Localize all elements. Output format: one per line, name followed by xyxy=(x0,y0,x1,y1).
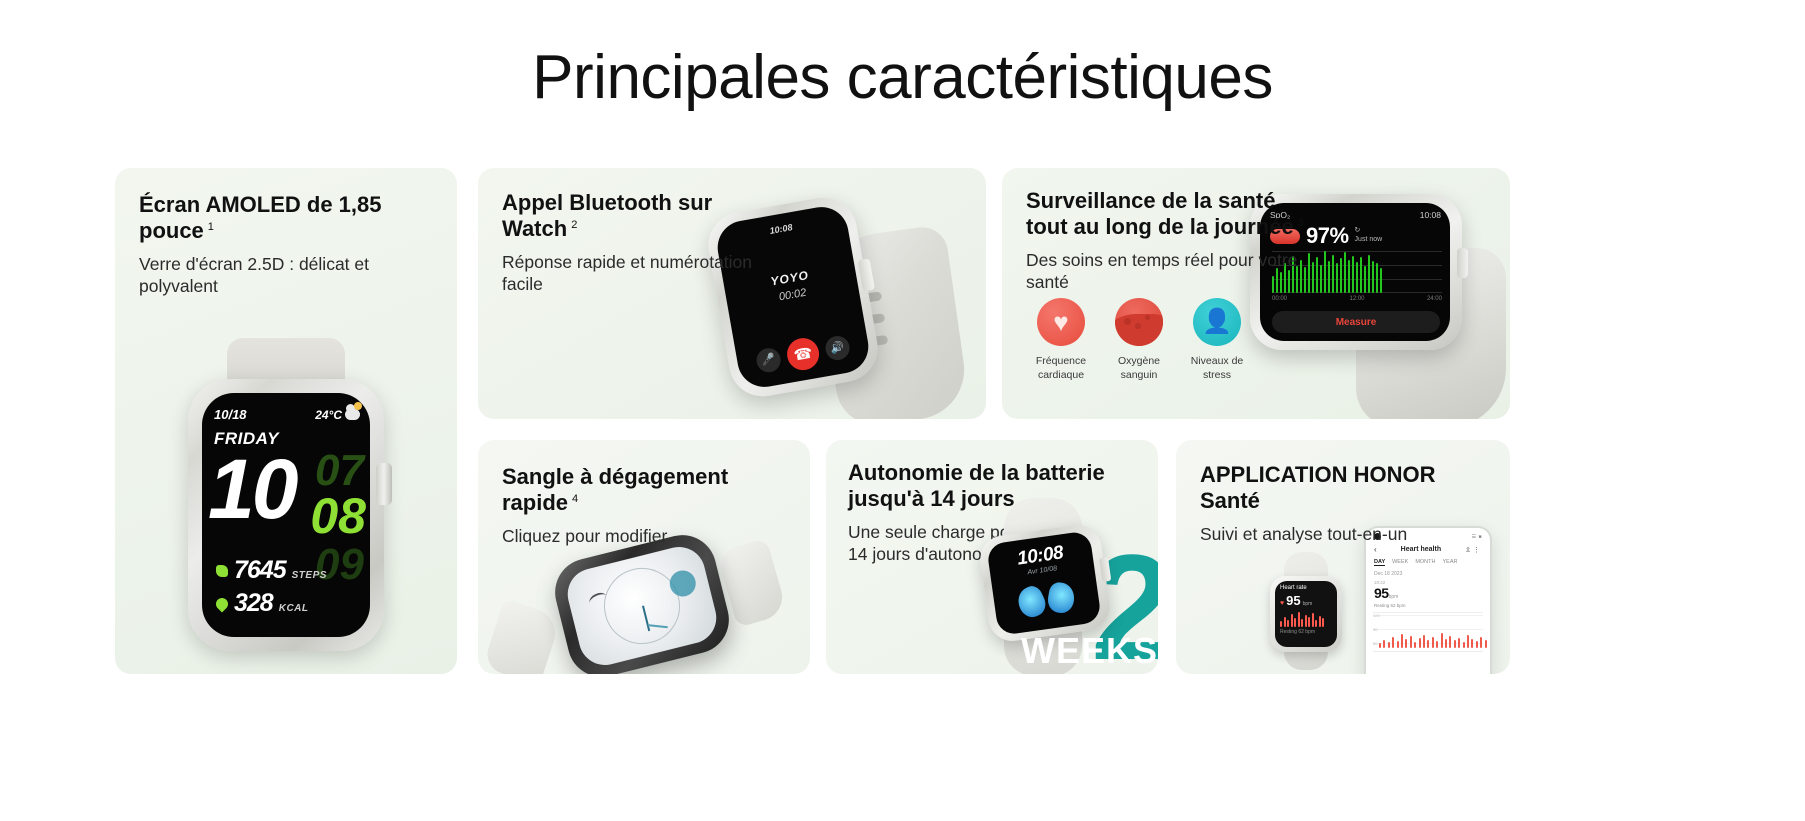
chart-y-label-mid: 90 xyxy=(1373,627,1377,632)
spo2-bar xyxy=(1352,256,1354,293)
phone-device-image: ☰ ■ ‹ Heart health ⇫⋮ DAY WEEK MONTH YEA… xyxy=(1364,526,1492,674)
spo2-bar xyxy=(1316,257,1318,293)
card-title: Sangle à dégagement rapide4 xyxy=(502,464,792,516)
phone-hangup-icon[interactable]: ☎ xyxy=(785,336,822,373)
watchface-hours: 10 xyxy=(208,447,295,531)
tab-month[interactable]: MONTH xyxy=(1415,559,1435,566)
card-subtitle: Cliquez pour modifier xyxy=(502,525,792,547)
butterfly-icon xyxy=(1017,581,1078,628)
card-title: Appel Bluetooth sur Watch2 xyxy=(502,190,782,242)
axis-start: 00:00 xyxy=(1272,296,1287,302)
health-metrics-row: ♥ Fréquence cardiaque Oxygène sanguin 👤 … xyxy=(1030,298,1248,382)
card-subtitle: Réponse rapide et numérotation facile xyxy=(502,251,782,296)
heart-rate-bar xyxy=(1305,615,1307,627)
chart-bar xyxy=(1419,638,1421,648)
heart-rate-value-row: ♥ 95 bpm xyxy=(1280,593,1332,608)
spo2-bar xyxy=(1372,261,1374,293)
chart-bar xyxy=(1449,636,1451,648)
spo2-status: ↻Just now xyxy=(1355,227,1383,245)
heart-rate-bar xyxy=(1322,618,1324,627)
heart-rate-label: Heart rate xyxy=(1280,585,1332,591)
spo2-bar xyxy=(1356,262,1358,293)
watchface-date: 10/18 xyxy=(214,407,247,422)
reading-unit: bpm xyxy=(1389,594,1399,600)
tab-day[interactable]: DAY xyxy=(1374,559,1385,566)
card-text-block: Surveillance de la santé tout au long de… xyxy=(1026,188,1316,294)
chart-bar xyxy=(1476,641,1478,648)
watch-strap-image xyxy=(486,530,810,674)
app-period-tabs[interactable]: DAY WEEK MONTH YEAR xyxy=(1366,557,1490,570)
watch-body: 10:08 Avr 10/08 xyxy=(977,522,1113,644)
heart-rate-bar xyxy=(1298,612,1300,627)
chart-bar xyxy=(1467,635,1469,648)
chart-bar xyxy=(1401,634,1403,648)
chart-y-label-high: 120 xyxy=(1373,613,1380,618)
card-subtitle: Verre d'écran 2.5D : délicat et polyvale… xyxy=(139,253,439,298)
metric-blood-oxygen[interactable]: Oxygène sanguin xyxy=(1108,298,1170,382)
heart-rate-bar xyxy=(1291,614,1293,627)
card-text-block: Écran AMOLED de 1,85 pouce1 Verre d'écra… xyxy=(139,192,439,298)
heart-rate-bar xyxy=(1280,621,1282,627)
watch-body xyxy=(548,528,736,674)
stress-level-icon: 👤 xyxy=(1193,298,1241,346)
watchface-temperature: 24°C xyxy=(315,408,342,422)
resting-heart-rate: Resting 62 bpm xyxy=(1280,629,1332,635)
heart-rate-bar xyxy=(1312,613,1314,627)
spo2-bar xyxy=(1340,258,1342,293)
app-resting-value: Resting 62 bpm xyxy=(1366,603,1490,610)
tab-week[interactable]: WEEK xyxy=(1392,559,1408,566)
footsteps-icon xyxy=(216,565,228,577)
spo2-bar xyxy=(1324,251,1326,293)
heart-rate-bar xyxy=(1287,620,1289,627)
feature-card-health-monitoring[interactable]: Surveillance de la santé tout au long de… xyxy=(1002,168,1510,419)
call-controls: 🎤 ☎ 🔊 xyxy=(735,327,871,381)
watch-crown xyxy=(1099,557,1111,582)
heart-rate-bars xyxy=(1280,611,1332,627)
app-page-title: Heart health xyxy=(1401,546,1441,553)
spo2-bar xyxy=(1348,260,1350,293)
watch-crown xyxy=(1457,248,1468,278)
chart-bar xyxy=(1445,639,1447,648)
chart-bar xyxy=(1471,639,1473,648)
heart-rate-bar xyxy=(1294,618,1296,627)
heart-rate-screen: Heart rate ♥ 95 bpm Resting 62 bpm xyxy=(1275,581,1337,647)
feature-card-amoled-display[interactable]: Écran AMOLED de 1,85 pouce1 Verre d'écra… xyxy=(115,168,457,674)
heart-rate-value: 95 xyxy=(1286,593,1300,608)
metric-heart-rate[interactable]: ♥ Fréquence cardiaque xyxy=(1030,298,1092,382)
chart-bar xyxy=(1397,641,1399,648)
kcal-unit: KCAL xyxy=(279,603,309,614)
chart-bar xyxy=(1485,640,1487,648)
heart-rate-bar xyxy=(1301,619,1303,627)
footnote-marker: 4 xyxy=(572,493,578,505)
chart-bar xyxy=(1383,640,1385,648)
chart-bar xyxy=(1414,642,1416,648)
spo2-chart-axis: 00:00 12:00 24:00 xyxy=(1272,296,1442,302)
app-date-label: Dec 18 2023 xyxy=(1366,570,1490,578)
watch-device-image: 10/18 24°C FRIDAY 10 07 08 09 7645 STEPS xyxy=(136,343,436,674)
speaker-icon[interactable]: 🔊 xyxy=(824,334,852,362)
spo2-bar xyxy=(1364,266,1366,293)
partly-cloudy-icon xyxy=(345,409,360,420)
axis-mid: 12:00 xyxy=(1349,296,1364,302)
watch-body: Heart rate ♥ 95 bpm Resting 62 bpm xyxy=(1270,576,1342,652)
measure-button[interactable]: Measure xyxy=(1272,311,1440,333)
chart-bar xyxy=(1432,637,1434,648)
watchface-minutes-previous: 07 xyxy=(315,449,364,493)
steps-unit: STEPS xyxy=(292,570,327,581)
spo2-time: 10:08 xyxy=(1420,210,1441,220)
watchface-steps-stat: 7645 STEPS xyxy=(216,556,327,585)
watch-screen: 10/18 24°C FRIDAY 10 07 08 09 7645 STEPS xyxy=(202,393,370,637)
axis-end: 24:00 xyxy=(1427,296,1442,302)
battery-badge-word: WEEKS xyxy=(1021,630,1158,672)
chart-baseline xyxy=(1373,651,1483,652)
chevron-left-icon[interactable]: ‹ xyxy=(1374,545,1377,554)
metric-label: Fréquence cardiaque xyxy=(1030,354,1092,382)
flame-icon xyxy=(214,595,231,612)
feature-card-honor-health-app[interactable]: APPLICATION HONOR Santé Suivi et analyse… xyxy=(1176,440,1510,674)
metric-label: Oxygène sanguin xyxy=(1108,354,1170,382)
spo2-bar xyxy=(1360,257,1362,293)
watch-screen: 10:08 Avr 10/08 xyxy=(986,530,1102,636)
heart-rate-bar xyxy=(1319,616,1321,627)
card-text-block: Sangle à dégagement rapide4 Cliquez pour… xyxy=(502,464,792,547)
app-toolbar-icons[interactable]: ⇫⋮ xyxy=(1465,546,1482,554)
spo2-bar xyxy=(1380,268,1382,293)
watch-device-image: Heart rate ♥ 95 bpm Resting 62 bpm xyxy=(1262,554,1348,672)
heart-rate-bar xyxy=(1284,617,1286,627)
feature-card-battery-life[interactable]: Autonomie de la batterie jusqu'à 14 jour… xyxy=(826,440,1158,674)
measure-button-label: Measure xyxy=(1336,317,1377,328)
chart-bar xyxy=(1392,637,1394,648)
chart-series xyxy=(1379,628,1481,648)
kcal-value: 328 xyxy=(234,589,273,618)
spo2-bar xyxy=(1368,255,1370,293)
card-title: Écran AMOLED de 1,85 pouce1 xyxy=(139,192,439,244)
card-title: Surveillance de la santé tout au long de… xyxy=(1026,188,1316,240)
chart-bar xyxy=(1423,635,1425,648)
watch-crown xyxy=(376,463,392,505)
metric-stress-level[interactable]: 👤 Niveaux de stress xyxy=(1186,298,1248,382)
footnote-marker: 1 xyxy=(208,221,214,233)
heart-icon: ♥ xyxy=(1280,600,1284,607)
watch-screen xyxy=(562,542,722,671)
steps-value: 7645 xyxy=(234,556,286,585)
spo2-bar xyxy=(1376,263,1378,293)
chart-bar xyxy=(1405,639,1407,648)
app-current-reading: 10:42 95bpm xyxy=(1366,578,1490,603)
spo2-bar xyxy=(1344,252,1346,293)
tab-year[interactable]: YEAR xyxy=(1442,559,1457,566)
chart-bar xyxy=(1410,636,1412,648)
spo2-bar xyxy=(1336,263,1338,293)
chart-y-label-low: 60 xyxy=(1373,641,1377,646)
footnote-marker: 2 xyxy=(571,219,577,231)
watchface-kcal-stat: 328 KCAL xyxy=(216,589,309,618)
microphone-icon[interactable]: 🎤 xyxy=(755,346,783,374)
chart-bar xyxy=(1441,633,1443,648)
heart-rate-unit: bpm xyxy=(1303,601,1313,607)
strap-piece-left xyxy=(482,598,561,674)
chart-bar xyxy=(1463,642,1465,648)
app-heart-rate-chart: 120 90 60 xyxy=(1373,612,1483,652)
card-subtitle: Suivi et analyse tout-en-un xyxy=(1200,523,1500,545)
footnote-marker: 3 xyxy=(1298,217,1304,229)
card-text-block: APPLICATION HONOR Santé Suivi et analyse… xyxy=(1200,462,1500,545)
page-title: Principales caractéristiques xyxy=(0,42,1805,113)
feature-card-quick-release-strap[interactable]: Sangle à dégagement rapide4 Cliquez pour… xyxy=(478,440,810,674)
card-title: APPLICATION HONOR Santé xyxy=(1200,462,1500,514)
spo2-bar xyxy=(1328,261,1330,293)
chart-bar xyxy=(1388,642,1390,648)
chart-bar xyxy=(1427,640,1429,648)
features-page: Principales caractéristiques Écran AMOLE… xyxy=(0,0,1805,821)
chart-bar xyxy=(1480,637,1482,648)
reading-value: 95 xyxy=(1374,585,1389,601)
watchface-minutes: 08 xyxy=(310,491,366,541)
chart-bar xyxy=(1458,638,1460,648)
feature-card-bluetooth-call[interactable]: Appel Bluetooth sur Watch2 Réponse rapid… xyxy=(478,168,986,419)
spo2-bar xyxy=(1332,255,1334,293)
watchface-weather: 24°C xyxy=(315,408,360,422)
chart-bar xyxy=(1454,640,1456,648)
watchface-top-row: 10/18 24°C xyxy=(214,407,360,422)
heart-rate-bar xyxy=(1308,617,1310,627)
metric-label: Niveaux de stress xyxy=(1186,354,1248,382)
chart-bar xyxy=(1379,643,1381,648)
card-text-block: Appel Bluetooth sur Watch2 Réponse rapid… xyxy=(502,190,782,296)
spo2-bar xyxy=(1320,265,1322,293)
blood-oxygen-icon xyxy=(1115,298,1163,346)
app-showcase-image: Heart rate ♥ 95 bpm Resting 62 bpm ☰ ■ xyxy=(1262,526,1492,674)
card-subtitle: Des soins en temps réel pour votre santé xyxy=(1026,249,1316,294)
heart-rate-bar xyxy=(1315,620,1317,627)
heart-icon: ♥ xyxy=(1037,298,1085,346)
chart-bar xyxy=(1436,641,1438,648)
